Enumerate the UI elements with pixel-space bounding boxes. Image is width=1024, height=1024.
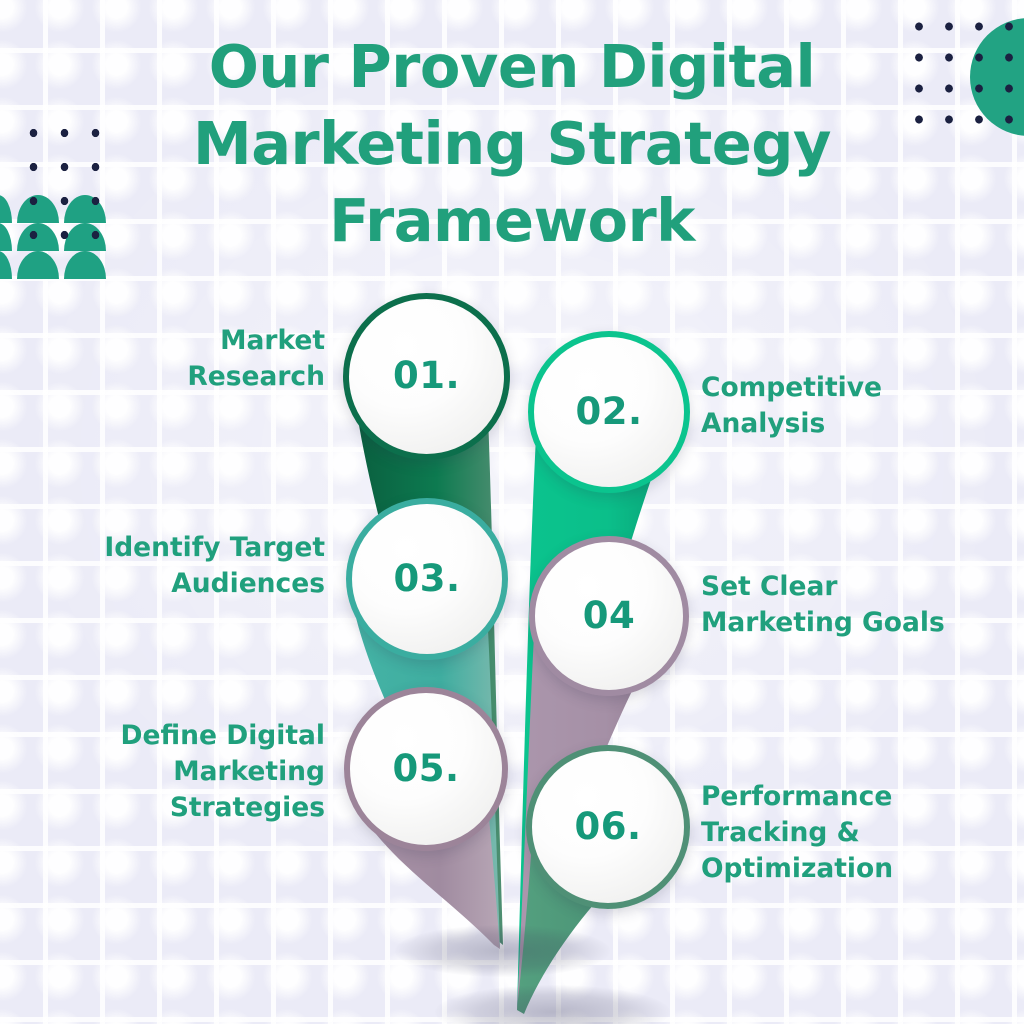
pin-label-04-line-1: Set Clear <box>701 569 981 605</box>
pin-label-05-line-2: Marketing <box>95 754 325 790</box>
page-title: Our Proven Digital Marketing Strategy Fr… <box>0 28 1024 259</box>
pin-label-05-line-3: Strategies <box>95 790 325 826</box>
pin-number-06: 06. <box>574 805 641 848</box>
pin-label-06-line-2: Tracking & <box>701 815 981 851</box>
pin-number-05: 05. <box>392 747 459 790</box>
pin-label-01: Market Research <box>115 323 325 395</box>
title-line-3: Framework <box>110 182 914 259</box>
pin-label-03-line-1: Identify Target <box>75 530 325 566</box>
pin-label-06: Performance Tracking & Optimization <box>701 779 981 887</box>
pin-label-03-line-2: Audiences <box>75 566 325 602</box>
title-line-2: Marketing Strategy <box>110 105 914 182</box>
pin-label-04-line-2: Marketing Goals <box>701 605 981 641</box>
pin-circle-04[interactable]: 04 <box>529 536 689 696</box>
pin-label-01-line-1: Market <box>115 323 325 359</box>
pin-label-04: Set Clear Marketing Goals <box>701 569 981 641</box>
title-line-1: Our Proven Digital <box>110 28 914 105</box>
pin-label-02: Competitive Analysis <box>701 370 961 442</box>
pin-number-02: 02. <box>575 390 642 433</box>
pin-label-05-line-1: Define Digital <box>95 718 325 754</box>
pin-label-05: Define Digital Marketing Strategies <box>95 718 325 826</box>
pin-circle-01[interactable]: 01. <box>343 293 510 460</box>
pin-circle-06[interactable]: 06. <box>526 745 690 909</box>
pin-label-03: Identify Target Audiences <box>75 530 325 602</box>
pin-label-02-line-1: Competitive <box>701 370 961 406</box>
pin-number-04: 04 <box>583 594 636 637</box>
pin-circle-05[interactable]: 05. <box>344 687 508 851</box>
pin-label-02-line-2: Analysis <box>701 406 961 442</box>
pin-label-06-line-3: Optimization <box>701 851 981 887</box>
pin-label-01-line-2: Research <box>115 359 325 395</box>
pin-label-06-line-1: Performance <box>701 779 981 815</box>
pin-circle-02[interactable]: 02. <box>528 331 690 493</box>
pin-circle-03[interactable]: 03. <box>346 498 508 660</box>
pin-number-03: 03. <box>393 557 460 600</box>
pin-number-01: 01. <box>393 354 460 397</box>
infographic-canvas: 01. Market Research 02. Competitive Anal… <box>0 0 1024 1024</box>
